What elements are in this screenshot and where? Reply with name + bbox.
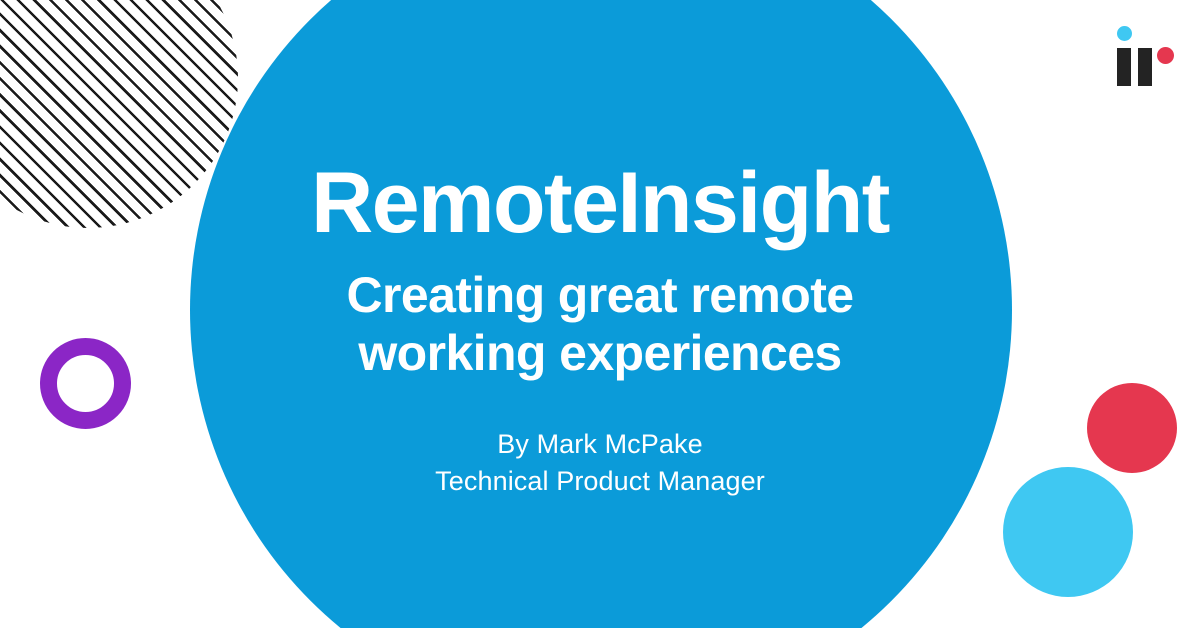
tagline-line-1: Creating great remote [347, 266, 854, 324]
title-slide: RemoteInsight Creating great remote work… [0, 0, 1200, 628]
tagline: Creating great remote working experience… [347, 246, 854, 382]
tagline-line-2: working experiences [347, 324, 854, 382]
byline: By Mark McPake Technical Product Manager [435, 382, 765, 501]
byline-role: Technical Product Manager [435, 463, 765, 500]
byline-author: By Mark McPake [435, 426, 765, 463]
slide-text-block: RemoteInsight Creating great remote work… [0, 0, 1200, 628]
brand-title: RemoteInsight [311, 0, 889, 246]
